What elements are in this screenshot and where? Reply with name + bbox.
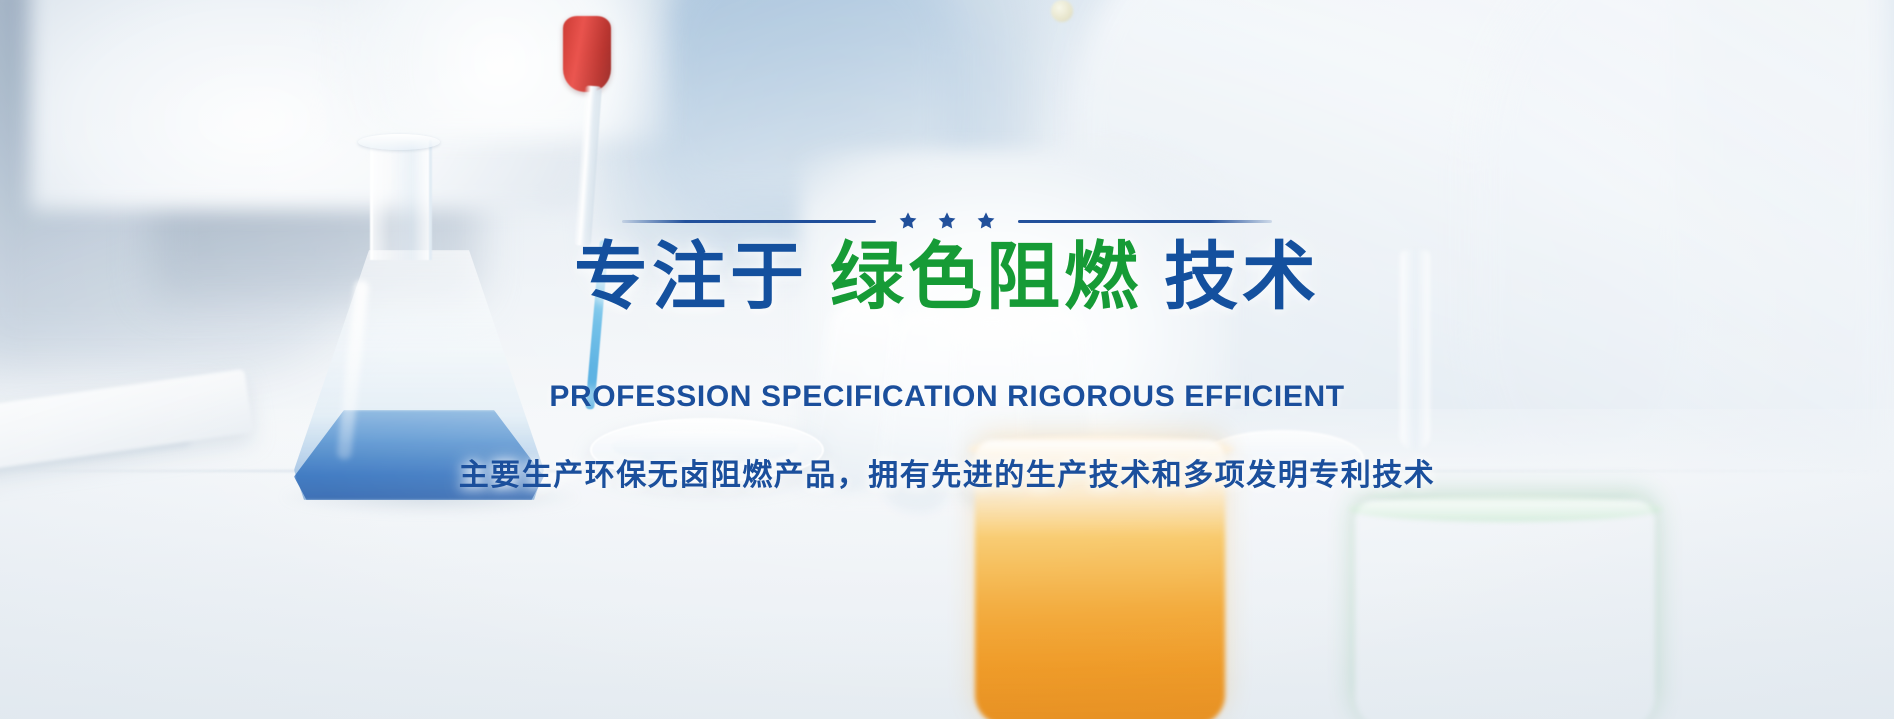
subtitle-chinese: 主要生产环保无卤阻燃产品，拥有先进的生产技术和多项发明专利技术 [459,450,1436,494]
headline-decoration [622,211,1272,231]
subtitle-english: PROFESSION SPECIFICATION RIGOROUS EFFICI… [549,380,1344,414]
decoration-line-left [622,220,876,223]
page-title: 专注于绿色阻燃技术 [574,238,1320,316]
decoration-line-right [1018,220,1272,223]
decoration-stars [898,211,996,231]
banner-content: 专注于绿色阻燃技术 PROFESSION SPECIFICATION RIGOR… [0,0,1894,719]
headline-part-3: 技术 [1164,235,1320,318]
star-icon [937,211,957,231]
headline-part-2: 绿色阻燃 [830,235,1142,318]
star-icon [898,211,918,231]
star-icon [976,211,996,231]
hero-banner: 专注于绿色阻燃技术 PROFESSION SPECIFICATION RIGOR… [0,0,1894,719]
headline-part-1: 专注于 [574,235,808,318]
